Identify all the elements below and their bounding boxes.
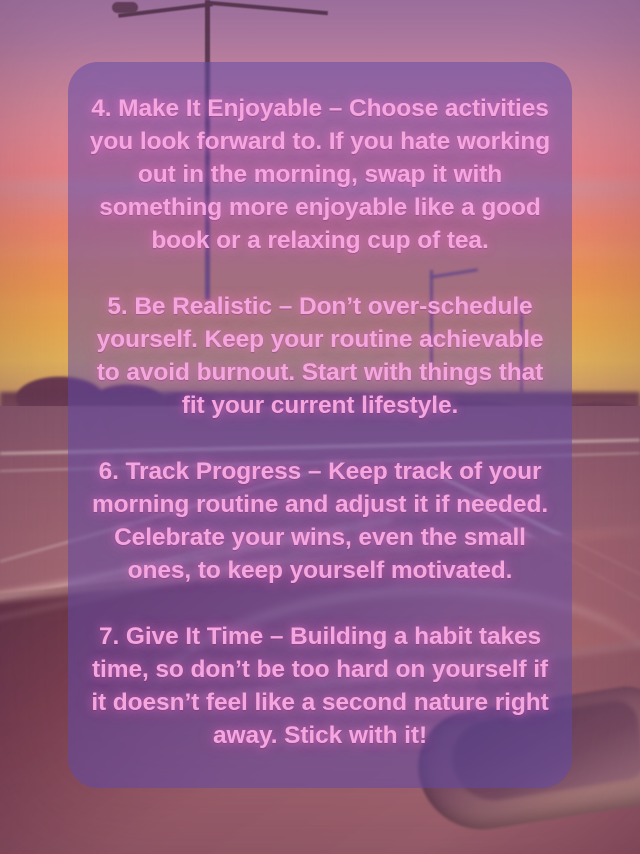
tip-paragraph-5: 5. Be Realistic – Don’t over-schedule yo… bbox=[86, 290, 554, 422]
screenshot-stage: 4. Make It Enjoyable – Choose activities… bbox=[0, 0, 640, 854]
tip-paragraph-7: 7. Give It Time – Building a habit takes… bbox=[86, 620, 554, 752]
text-card: 4. Make It Enjoyable – Choose activities… bbox=[68, 62, 572, 788]
tip-paragraph-4: 4. Make It Enjoyable – Choose activities… bbox=[86, 92, 554, 257]
tip-paragraph-6: 6. Track Progress – Keep track of your m… bbox=[86, 455, 554, 587]
